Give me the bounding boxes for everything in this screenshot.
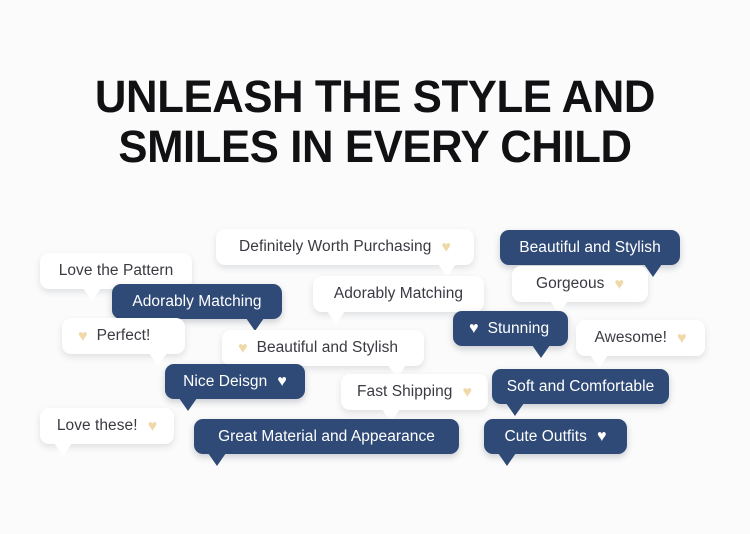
heart-icon: ♥ [238,341,248,357]
testimonial-text: Beautiful and Stylish [257,339,399,357]
testimonial-text: Beautiful and Stylish [519,239,661,257]
testimonial-text: Cute Outfits [505,428,587,446]
testimonial-text: Love the Pattern [59,262,174,280]
testimonial-text: Perfect! [97,327,151,345]
bubble-tail [506,403,524,416]
testimonial-bubble: Cute Outfits♥ [484,419,627,454]
testimonial-bubble: Adorably Matching [112,284,282,319]
testimonial-text: Love these! [57,417,138,435]
heart-icon: ♥ [614,277,624,293]
testimonial-bubble: Definitely Worth Purchasing♥ [216,229,474,265]
heart-icon: ♥ [469,321,479,337]
testimonial-bubble: Great Material and Appearance [194,419,459,454]
bubble-tail [590,355,608,368]
testimonial-bubble: Beautiful and Stylish [500,230,680,265]
bubble-tail [498,453,516,466]
heart-icon: ♥ [441,240,451,256]
testimonial-bubble: Awesome!♥ [576,320,705,356]
testimonial-text: Stunning [488,320,550,338]
testimonial-bubble: Love these!♥ [40,408,174,444]
testimonial-bubble: Gorgeous♥ [512,266,648,302]
testimonial-text: Definitely Worth Purchasing [239,238,431,256]
testimonial-text: Soft and Comfortable [507,378,654,396]
testimonial-text: Fast Shipping [357,383,452,401]
testimonial-bubble: ♥Beautiful and Stylish [222,330,424,366]
testimonial-text: Awesome! [594,329,666,347]
heart-icon: ♥ [597,429,607,445]
heart-icon: ♥ [462,385,472,401]
testimonial-bubble: Soft and Comfortable [492,369,669,404]
heart-icon: ♥ [277,374,287,390]
testimonial-text: Gorgeous [536,275,604,293]
testimonial-bubble-cloud: Love the PatternDefinitely Worth Purchas… [0,0,750,534]
testimonial-text: Great Material and Appearance [218,428,435,446]
testimonial-text: Adorably Matching [132,293,261,311]
bubble-tail [327,311,345,324]
heart-icon: ♥ [148,419,158,435]
bubble-tail [208,453,226,466]
heart-icon: ♥ [78,329,88,345]
testimonial-bubble: Nice Deisgn♥ [165,364,305,399]
testimonial-text: Nice Deisgn [183,373,267,391]
bubble-tail [83,288,101,301]
bubble-tail [149,353,167,366]
bubble-tail [54,443,72,456]
testimonial-bubble: Fast Shipping♥ [341,374,488,410]
testimonial-bubble: Adorably Matching [313,276,484,312]
bubble-tail [532,345,550,358]
testimonial-text: Adorably Matching [334,285,463,303]
bubble-tail [179,398,197,411]
testimonial-bubble: ♥Perfect! [62,318,185,354]
testimonial-bubble: ♥Stunning [453,311,568,346]
heart-icon: ♥ [677,331,687,347]
